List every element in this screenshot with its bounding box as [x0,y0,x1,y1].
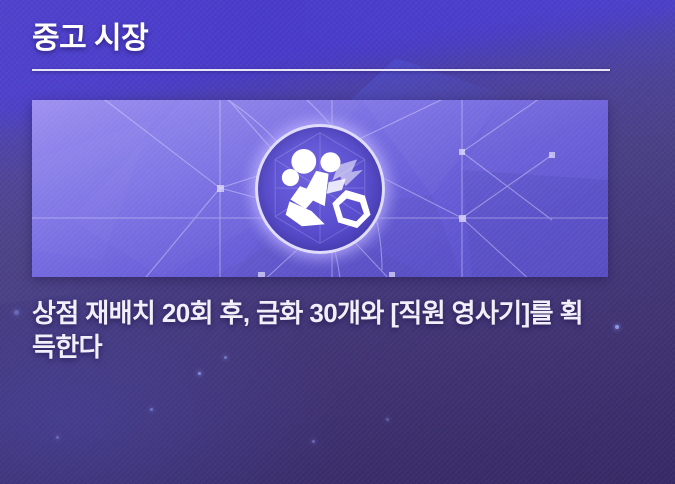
sparkle-particle [14,310,19,315]
merchandise-bundle-icon [258,127,382,251]
sparkle-particle [615,325,619,329]
sparkle-particle [56,436,59,439]
sparkle-particle [198,372,201,375]
emblem-disc [255,124,385,254]
sparkle-particle [312,440,315,443]
reward-emblem[interactable] [255,124,385,254]
sparkle-particle [150,408,153,411]
reward-banner[interactable] [32,100,608,277]
page-title: 중고 시장 [32,22,610,57]
reward-description: 상점 재배치 20회 후, 금화 30개와 [직원 영사기]를 획득한다 [32,296,602,365]
panel-header: 중고 시장 [32,22,610,71]
title-divider [32,69,610,71]
used-market-panel: 중고 시장 [0,0,675,484]
sparkle-particle [386,418,389,421]
